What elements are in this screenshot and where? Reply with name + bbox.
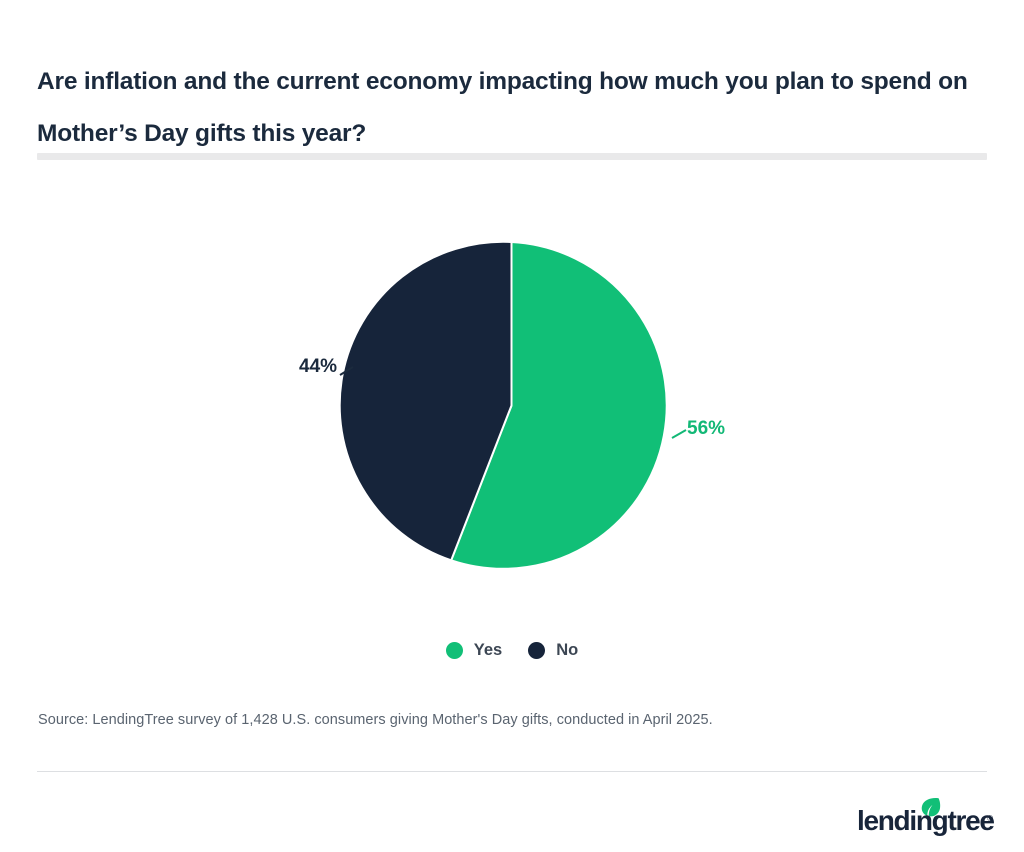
source-note: Source: LendingTree survey of 1,428 U.S.… <box>38 712 713 728</box>
leader-line-yes <box>672 430 686 438</box>
slice-label-yes: 56% <box>687 418 725 440</box>
chart-legend: Yes No <box>0 642 1024 659</box>
logo-wordmark: lendingtree <box>857 807 994 835</box>
legend-label-yes: Yes <box>474 642 502 659</box>
legend-item-no[interactable]: No <box>528 642 578 659</box>
legend-swatch-yes-icon <box>446 642 463 659</box>
legend-label-no: No <box>556 642 578 659</box>
slice-label-no: 44% <box>299 356 337 378</box>
lendingtree-logo[interactable]: lendingtree ® <box>857 798 990 838</box>
legend-item-yes[interactable]: Yes <box>446 642 502 659</box>
legend-swatch-no-icon <box>528 642 545 659</box>
logo-registered-mark: ® <box>987 814 993 823</box>
chart-canvas: Are inflation and the current economy im… <box>0 0 1024 852</box>
footer-divider <box>37 771 987 772</box>
